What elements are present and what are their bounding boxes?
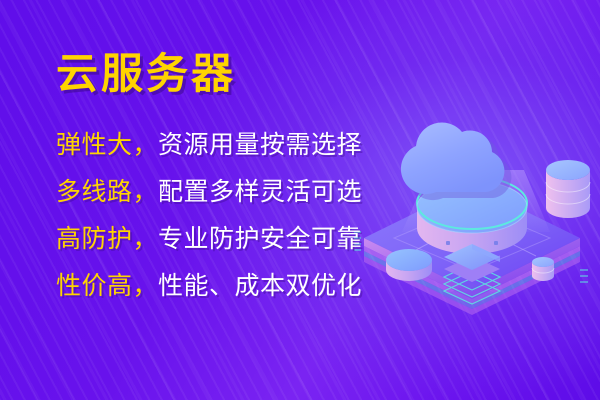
cloud-server-promo-banner: 云服务器 弹性大，资源用量按需选择 多线路，配置多样灵活可选 高防护，专业防护安… <box>0 0 600 400</box>
edge-tick-marks-right <box>580 270 588 282</box>
feature-4-key: 性价高， <box>56 272 158 300</box>
database-stack-large <box>546 160 590 218</box>
feature-1-value: 资源用量按需选择 <box>158 131 362 159</box>
feature-2-key: 多线路， <box>56 178 158 206</box>
feature-item-4: 性价高，性能、成本双优化 <box>56 263 416 310</box>
feature-3-key: 高防护， <box>56 225 158 253</box>
page-title: 云服务器 <box>56 52 416 96</box>
feature-3-value: 专业防护安全可靠 <box>158 225 362 253</box>
feature-item-1: 弹性大，资源用量按需选择 <box>56 122 416 169</box>
database-stack-small <box>532 257 554 281</box>
feature-item-2: 多线路，配置多样灵活可选 <box>56 169 416 216</box>
cloud-icon <box>401 122 511 200</box>
feature-2-value: 配置多样灵活可选 <box>158 178 362 206</box>
banner-text-block: 云服务器 弹性大，资源用量按需选择 多线路，配置多样灵活可选 高防护，专业防护安… <box>56 52 416 310</box>
feature-4-value: 性能、成本双优化 <box>158 272 362 300</box>
feature-1-key: 弹性大， <box>56 131 158 159</box>
feature-item-3: 高防护，专业防护安全可靠 <box>56 216 416 263</box>
feature-list: 弹性大，资源用量按需选择 多线路，配置多样灵活可选 高防护，专业防护安全可靠 性… <box>56 122 416 310</box>
